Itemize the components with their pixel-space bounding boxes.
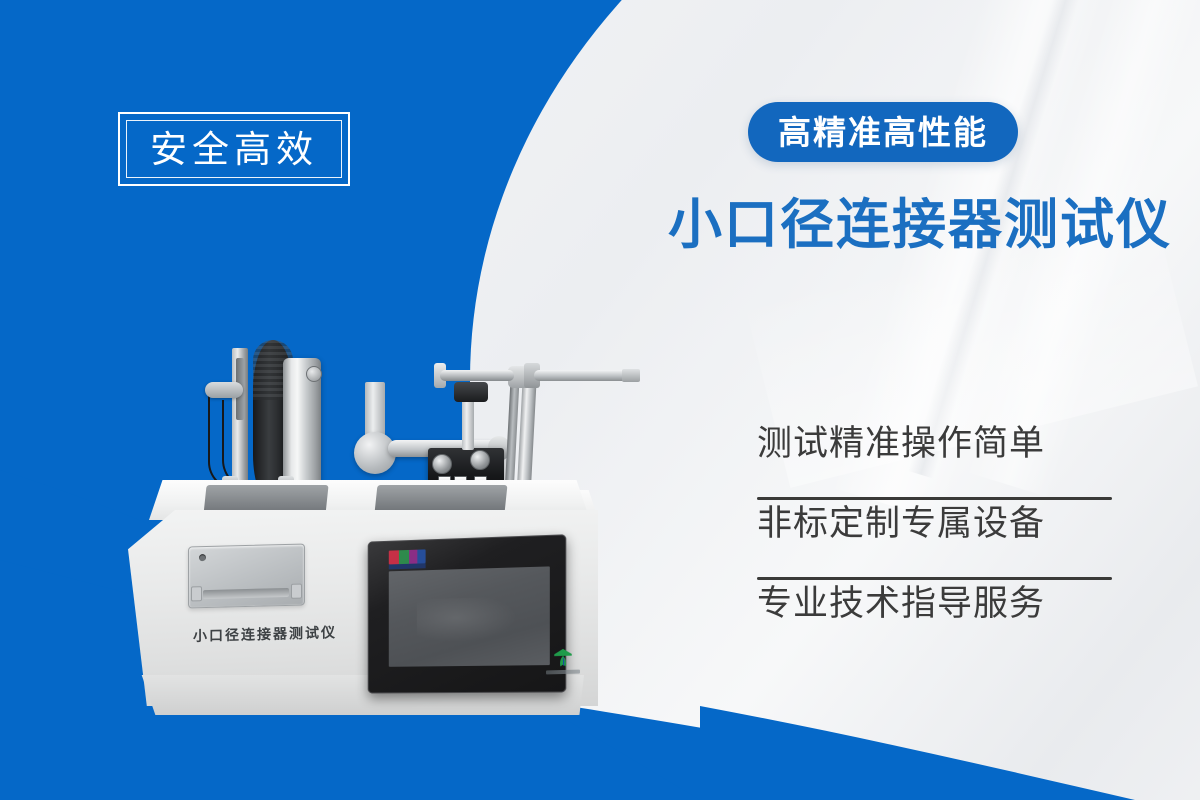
feature-item-3: 专业技术指导服务 <box>757 580 1115 660</box>
printer-tab-left <box>191 586 202 601</box>
page-title: 小口径连接器测试仪 <box>668 196 1172 255</box>
tagline-badge: 安全高效 <box>118 112 350 186</box>
hmi-touch-panel[interactable] <box>368 534 567 693</box>
feature-item-1: 测试精准操作简单 <box>757 420 1115 500</box>
shaft-right <box>534 370 640 381</box>
printer-tab-right <box>291 584 302 599</box>
clamp-block <box>205 382 243 398</box>
tagline-badge-text: 安全高效 <box>150 131 318 168</box>
feature-item-3-label: 专业技术指导服务 <box>757 580 1115 621</box>
feature-item-2-label: 非标定制专属设备 <box>757 500 1115 541</box>
deck-recess-right <box>375 485 508 513</box>
leaf-logo-svg <box>552 648 574 670</box>
drum-hub-screw <box>306 366 322 382</box>
company-logo-wordmark <box>546 670 580 675</box>
feature-pill-text: 高精准高性能 <box>778 116 988 149</box>
hmi-brand-logo-icon <box>389 549 426 564</box>
feature-pill: 高精准高性能 <box>748 102 1018 162</box>
adjust-knob-1 <box>432 454 452 474</box>
feature-item-2: 非标定制专属设备 <box>757 500 1115 580</box>
printer-door[interactable] <box>188 543 305 608</box>
hmi-screen[interactable] <box>389 566 550 666</box>
feature-item-1-label: 测试精准操作简单 <box>757 420 1115 461</box>
company-leaf-logo-icon <box>546 648 580 681</box>
poster-canvas: 安全高效 高精准高性能 小口径连接器测试仪 测试精准操作简单 非标定制专属设备 … <box>0 0 1200 800</box>
tagline-badge-inner: 安全高效 <box>126 120 342 178</box>
upper-arm-head <box>454 382 488 402</box>
product-image: 威度科技 威度科技 小口径连接器测试仪 <box>110 330 670 750</box>
feature-list: 测试精准操作简单 非标定制专属设备 专业技术指导服务 <box>757 420 1115 660</box>
adjust-knob-2 <box>470 450 490 470</box>
printer-paper-slot <box>203 588 289 599</box>
shaft-left <box>440 370 514 381</box>
